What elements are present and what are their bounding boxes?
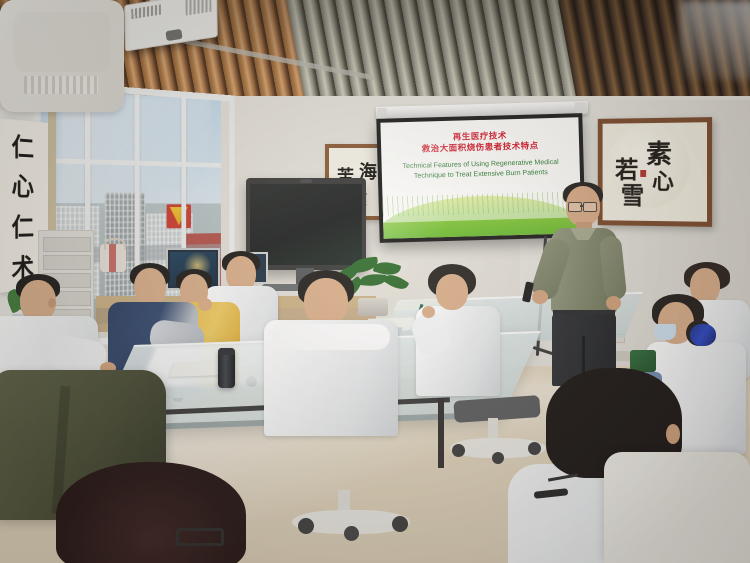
glasses-bridge xyxy=(580,205,584,207)
head xyxy=(436,274,468,310)
presenter-speaker xyxy=(540,186,626,386)
chair-vent-slots xyxy=(24,76,98,94)
attendee-curly-hair xyxy=(412,266,502,396)
face-mask xyxy=(654,324,676,340)
display-camera-icon xyxy=(300,179,312,183)
attendee-center-back-view xyxy=(268,276,398,446)
hand xyxy=(606,296,621,310)
ear xyxy=(666,424,680,444)
meeting-room-photo: 仁 心 仁 术 苦 海 慈 素 心 若 雪 再生医疗技术 救治大面积烧伤患者技术… xyxy=(0,0,750,563)
table-leg xyxy=(438,398,444,468)
hand xyxy=(532,290,548,304)
chair-caster xyxy=(298,518,314,534)
hair-scrunchie xyxy=(690,324,716,346)
glasses-icon xyxy=(583,202,597,212)
calligraphy-char: 心 xyxy=(652,164,674,196)
hair xyxy=(56,462,246,563)
screen-end-cap xyxy=(575,102,587,113)
attendee-foreground-left xyxy=(56,462,246,563)
calligraphy-char: 心 xyxy=(3,166,41,203)
cabinet-drawer[interactable] xyxy=(43,255,91,270)
chair-caster xyxy=(392,516,408,532)
artist-seal xyxy=(640,170,646,177)
thermos-tumbler xyxy=(218,348,235,388)
glasses-icon xyxy=(568,202,582,212)
tumbler-lid xyxy=(218,348,235,355)
calligraphy-char: 仁 xyxy=(3,208,41,245)
head xyxy=(134,268,166,306)
calligraphy-char: 仁 xyxy=(3,126,41,165)
screen-end-cap xyxy=(377,108,387,119)
ear xyxy=(48,298,56,308)
projector-vent-icon xyxy=(185,0,211,16)
chair-caster xyxy=(344,526,359,541)
chair-caster xyxy=(452,444,465,457)
glasses-icon xyxy=(176,528,224,546)
chair-back-panel xyxy=(14,12,110,72)
projector-vent-icon xyxy=(131,4,161,19)
office-chair-foreground-right[interactable] xyxy=(604,452,750,563)
shoulders xyxy=(272,324,390,350)
head xyxy=(304,278,348,326)
cabinet-drawer[interactable] xyxy=(43,237,91,252)
chair-caster xyxy=(492,452,504,464)
hand xyxy=(422,306,435,318)
